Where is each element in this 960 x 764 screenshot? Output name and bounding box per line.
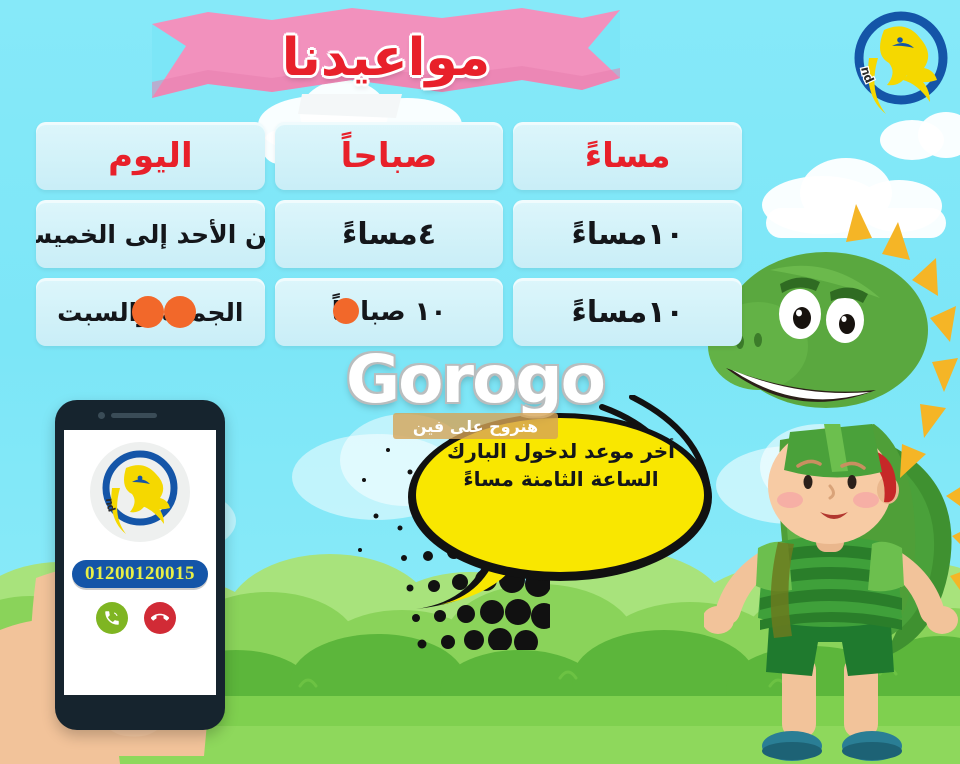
table-row: من الأحد إلى الخميس ٤مساءً ١٠مساءً bbox=[36, 200, 742, 268]
phone-logo-badge: Dragon Island bbox=[90, 442, 190, 542]
cell-day-1: من الأحد إلى الخميس bbox=[36, 200, 265, 268]
title-ribbon: مواعيدنا bbox=[152, 6, 620, 118]
cell-evening-1: ١٠مساءً bbox=[513, 200, 742, 268]
cell-day-2: الجمعة والسبت bbox=[36, 278, 265, 346]
column-header-morning: صباحاً bbox=[275, 122, 504, 190]
poster-canvas: مواعيدنا اليوم صباحاً مساءً من الأحد إلى… bbox=[0, 0, 960, 764]
phone-number: 01200120015 bbox=[85, 563, 195, 585]
orange-dot-decoration bbox=[164, 296, 196, 328]
watermark-wordmark: Gorogo bbox=[305, 341, 645, 418]
phone-hangup-icon[interactable] bbox=[144, 602, 176, 634]
schedule-table: اليوم صباحاً مساءً من الأحد إلى الخميس ٤… bbox=[36, 122, 742, 356]
page-title: مواعيدنا bbox=[152, 6, 620, 110]
cell-morning-1: ٤مساءً bbox=[275, 200, 504, 268]
cell-morning-2: ١٠ صباحاً bbox=[275, 278, 504, 346]
notice-line-2: الساعة الثامنة مساءً bbox=[430, 465, 692, 493]
boy-character bbox=[704, 424, 960, 764]
table-header-row: اليوم صباحاً مساءً bbox=[36, 122, 742, 190]
table-row: الجمعة والسبت ١٠ صباحاً ١٠مساءً bbox=[36, 278, 742, 346]
brand-logo: Dragon Island bbox=[850, 8, 952, 118]
phone-device: Dragon Island 01200120015 bbox=[55, 400, 225, 730]
phone-camera bbox=[98, 412, 105, 419]
column-header-day: اليوم bbox=[36, 122, 265, 190]
column-header-evening: مساءً bbox=[513, 122, 742, 190]
cell-evening-2: ١٠مساءً bbox=[513, 278, 742, 346]
watermark-tagline: هنروح على فين bbox=[413, 417, 538, 436]
watermark: Gorogo هنروح على فين bbox=[305, 341, 645, 446]
watermark-tagline-banner: هنروح على فين bbox=[393, 413, 558, 439]
orange-dot-decoration bbox=[333, 298, 359, 324]
phone-number-pill: 01200120015 bbox=[72, 560, 208, 588]
phone-call-icon[interactable] bbox=[96, 602, 128, 634]
phone-speaker bbox=[111, 413, 157, 418]
orange-dot-decoration bbox=[132, 296, 164, 328]
phone-screen: Dragon Island 01200120015 bbox=[64, 430, 216, 695]
